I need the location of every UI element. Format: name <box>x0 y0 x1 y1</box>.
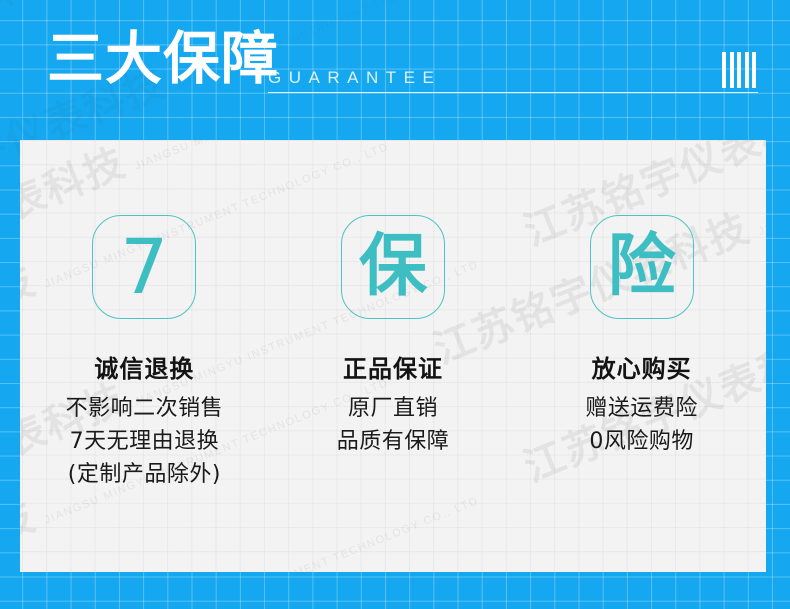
page-title: 三大保障 <box>47 28 279 90</box>
guarantee-item-2-line-2: 品质有保障 <box>337 425 450 458</box>
bars-decoration-icon <box>722 52 756 88</box>
guarantee-item-1-line-2: 7天无理由退换 <box>66 425 224 458</box>
guarantee-item-3-title: 放心购买 <box>592 354 692 384</box>
guarantee-item-2-title: 正品保证 <box>343 354 443 384</box>
guarantee-item-3-lines: 赠送运费险 0风险购物 <box>585 392 698 458</box>
guarantee-item-1-line-3: (定制产品除外) <box>66 458 224 491</box>
seven-day-icon-glyph: 7 <box>120 231 168 303</box>
guarantee-item-1: 7 诚信退换 不影响二次销售 7天无理由退换 (定制产品除外) <box>20 140 269 572</box>
seven-day-icon: 7 <box>92 215 196 319</box>
insurance-icon: 险 <box>590 215 694 319</box>
guarantee-card: 江苏铭宇仪表科技JIANGSU MINGYU INSTRUMENT TECHNO… <box>20 140 766 572</box>
genuine-guarantee-icon-glyph: 保 <box>359 231 427 303</box>
guarantee-item-3-line-2: 0风险购物 <box>585 425 698 458</box>
genuine-guarantee-icon: 保 <box>341 215 445 319</box>
guarantee-item-1-lines: 不影响二次销售 7天无理由退换 (定制产品除外) <box>66 392 224 491</box>
guarantee-item-3-line-1: 赠送运费险 <box>585 392 698 425</box>
guarantee-item-3: 险 放心购买 赠送运费险 0风险购物 <box>517 140 766 572</box>
banner-header: 三大保障 GUARANTEE <box>0 0 790 140</box>
header-divider <box>268 92 758 93</box>
guarantee-item-1-line-1: 不影响二次销售 <box>66 392 224 425</box>
guarantee-item-1-title: 诚信退换 <box>94 354 194 384</box>
guarantee-item-2-line-1: 原厂直销 <box>337 392 450 425</box>
page-subtitle: GUARANTEE <box>268 68 441 88</box>
guarantee-item-2: 保 正品保证 原厂直销 品质有保障 <box>269 140 518 572</box>
guarantee-columns: 7 诚信退换 不影响二次销售 7天无理由退换 (定制产品除外) 保 正品保证 原… <box>20 140 766 572</box>
promo-banner: 江苏铭宇仪表科技JIANGSU MINGYU INSTRUMENT TECHNO… <box>0 0 790 609</box>
insurance-icon-glyph: 险 <box>608 231 676 303</box>
guarantee-item-2-lines: 原厂直销 品质有保障 <box>337 392 450 458</box>
